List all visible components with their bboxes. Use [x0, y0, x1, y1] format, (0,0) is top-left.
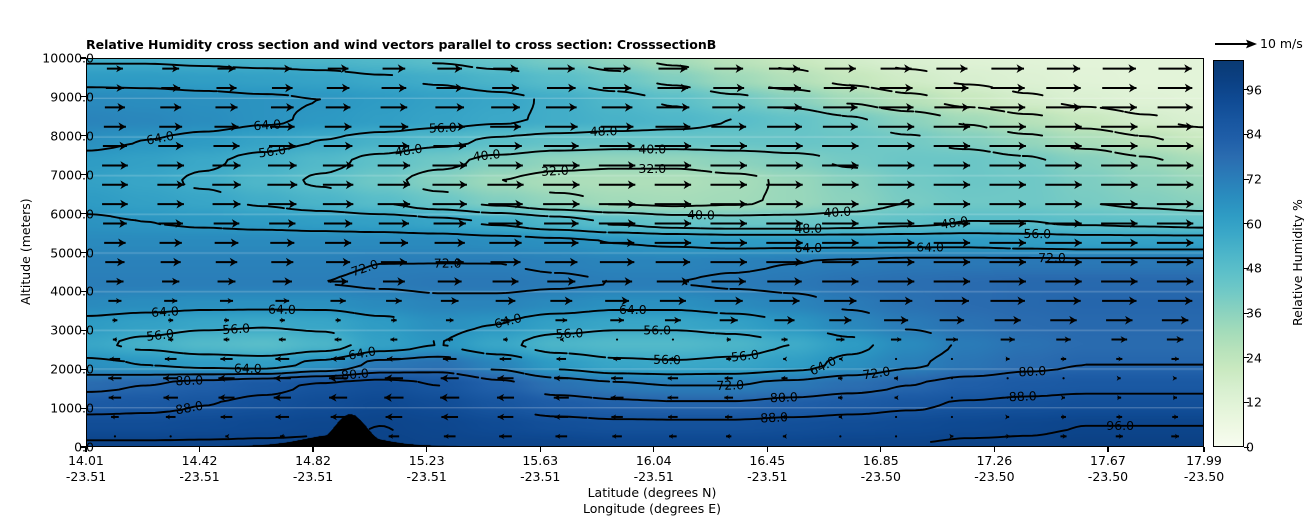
colorbar-label: Relative Humidity %: [1290, 199, 1304, 326]
x-tick-mark: [653, 447, 654, 452]
y-tick-label: 4000.0: [50, 284, 94, 299]
x-tick-longitude: -23.51: [66, 469, 106, 485]
x-tick-mark: [1107, 447, 1108, 452]
reference-wind-vector: 10 m/s: [1213, 34, 1304, 54]
colorbar-tick-mark: [1244, 357, 1249, 358]
x-tick-longitude: -23.51: [406, 469, 446, 485]
x-tick-label: 17.99-23.50: [1184, 453, 1224, 484]
x-axis-label: Latitude (degrees N)Longitude (degrees E…: [0, 485, 1304, 516]
y-axis-label: Altitude (meters): [18, 198, 33, 305]
y-tick-label: 7000.0: [50, 167, 94, 182]
x-tick-longitude: -23.50: [861, 469, 901, 485]
x-tick-mark: [994, 447, 995, 452]
x-tick-mark: [540, 447, 541, 452]
x-tick-label: 14.01-23.51: [66, 453, 106, 484]
x-axis-label-longitude: Longitude (degrees E): [0, 501, 1304, 517]
x-tick-latitude: 14.42: [179, 453, 219, 469]
colorbar-tick-mark: [1244, 134, 1249, 135]
x-tick-latitude: 17.99: [1184, 453, 1224, 469]
y-tick-mark: [81, 252, 86, 253]
x-tick-mark: [426, 447, 427, 452]
x-tick-label: 16.85-23.50: [861, 453, 901, 484]
x-tick-longitude: -23.50: [1184, 469, 1224, 485]
x-tick-longitude: -23.50: [974, 469, 1014, 485]
y-tick-label: 9000.0: [50, 89, 94, 104]
x-tick-label: 14.82-23.51: [293, 453, 333, 484]
y-tick-label: 1000.0: [50, 401, 94, 416]
x-tick-longitude: -23.51: [634, 469, 674, 485]
x-tick-mark: [1203, 447, 1204, 452]
colorbar-tick-mark: [1244, 402, 1249, 403]
x-tick-label: 15.63-23.51: [520, 453, 560, 484]
y-tick-mark: [81, 174, 86, 175]
y-tick-mark: [81, 408, 86, 409]
y-tick-mark: [81, 96, 86, 97]
x-tick-label: 15.23-23.51: [406, 453, 446, 484]
x-tick-latitude: 15.63: [520, 453, 560, 469]
y-tick-mark: [81, 213, 86, 214]
y-tick-label: 5000.0: [50, 245, 94, 260]
y-tick-label: 6000.0: [50, 206, 94, 221]
y-tick-mark: [81, 330, 86, 331]
x-tick-label: 16.04-23.51: [634, 453, 674, 484]
y-tick-mark: [81, 369, 86, 370]
colorbar-tick-mark: [1244, 268, 1249, 269]
x-tick-latitude: 17.26: [974, 453, 1014, 469]
y-tick-mark: [81, 57, 86, 58]
x-tick-mark: [312, 447, 313, 452]
colorbar-tick-mark: [1244, 179, 1249, 180]
x-tick-longitude: -23.51: [747, 469, 787, 485]
y-tick-label: 2000.0: [50, 362, 94, 377]
x-tick-longitude: -23.51: [179, 469, 219, 485]
colorbar-tick-mark: [1244, 447, 1249, 448]
reference-arrow-icon: [1213, 34, 1259, 54]
y-tick-label: 10000.0: [42, 51, 94, 66]
y-tick-label: 3000.0: [50, 323, 94, 338]
y-tick-mark: [81, 291, 86, 292]
x-tick-longitude: -23.51: [520, 469, 560, 485]
x-tick-label: 17.26-23.50: [974, 453, 1014, 484]
x-axis-label-latitude: Latitude (degrees N): [0, 485, 1304, 501]
x-tick-label: 17.67-23.50: [1088, 453, 1128, 484]
x-tick-mark: [199, 447, 200, 452]
cross-section-plot: 32.032.040.040.040.040.048.048.048.048.0…: [86, 58, 1204, 447]
x-tick-mark: [880, 447, 881, 452]
x-tick-longitude: -23.50: [1088, 469, 1128, 485]
colorbar: [1213, 60, 1244, 447]
y-tick-label: 8000.0: [50, 128, 94, 143]
x-tick-latitude: 14.82: [293, 453, 333, 469]
x-tick-latitude: 16.04: [634, 453, 674, 469]
title-line-1: Relative Humidity cross section and wind…: [86, 37, 1206, 53]
y-tick-mark: [81, 135, 86, 136]
wind-vectors: [87, 59, 1203, 446]
x-tick-latitude: 15.23: [406, 453, 446, 469]
x-tick-longitude: -23.51: [293, 469, 333, 485]
x-tick-label: 16.45-23.51: [747, 453, 787, 484]
x-tick-label: 14.42-23.51: [179, 453, 219, 484]
x-tick-mark: [85, 447, 86, 452]
x-tick-latitude: 17.67: [1088, 453, 1128, 469]
x-tick-latitude: 16.85: [861, 453, 901, 469]
reference-vector-label: 10 m/s: [1260, 36, 1303, 51]
colorbar-tick-mark: [1244, 313, 1249, 314]
colorbar-tick-mark: [1244, 223, 1249, 224]
x-tick-latitude: 16.45: [747, 453, 787, 469]
x-tick-mark: [767, 447, 768, 452]
colorbar-tick-mark: [1244, 89, 1249, 90]
x-tick-latitude: 14.01: [66, 453, 106, 469]
